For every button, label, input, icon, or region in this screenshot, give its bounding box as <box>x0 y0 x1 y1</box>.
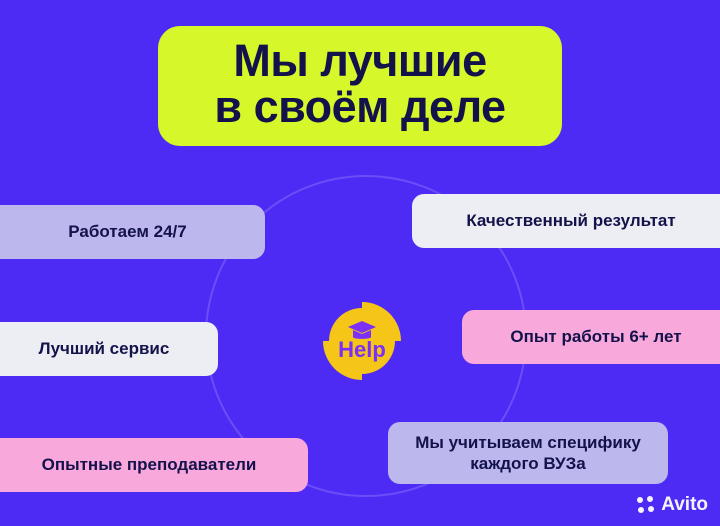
page-title-line-2: в своём деле <box>176 84 544 130</box>
page-title-line-1: Мы лучшие <box>176 38 544 84</box>
svg-text:Help: Help <box>338 337 386 362</box>
feature-chip-university-specifics[interactable]: Мы учитываем специфику каждого ВУЗа <box>388 422 668 484</box>
watermark-label: Avito <box>661 494 708 516</box>
title-banner: Мы лучшие в своём деле <box>158 26 562 146</box>
feature-chip-teachers[interactable]: Опытные преподаватели <box>0 438 308 492</box>
feature-chip-university-specifics-line-1: Мы учитываем специфику <box>415 432 641 453</box>
feature-chip-quality-result[interactable]: Качественный результат <box>412 194 720 248</box>
poster-canvas: Мы лучшие в своём деле Help Работаем 24/… <box>0 0 720 526</box>
watermark: Avito <box>637 494 708 516</box>
help-logo: Help <box>316 295 408 387</box>
feature-chip-experience[interactable]: Опыт работы 6+ лет <box>462 310 720 364</box>
feature-chip-best-service[interactable]: Лучший сервис <box>0 322 218 376</box>
feature-chip-university-specifics-line-2: каждого ВУЗа <box>415 453 641 474</box>
avito-dots-icon <box>637 496 655 514</box>
feature-chip-working-hours[interactable]: Работаем 24/7 <box>0 205 265 259</box>
